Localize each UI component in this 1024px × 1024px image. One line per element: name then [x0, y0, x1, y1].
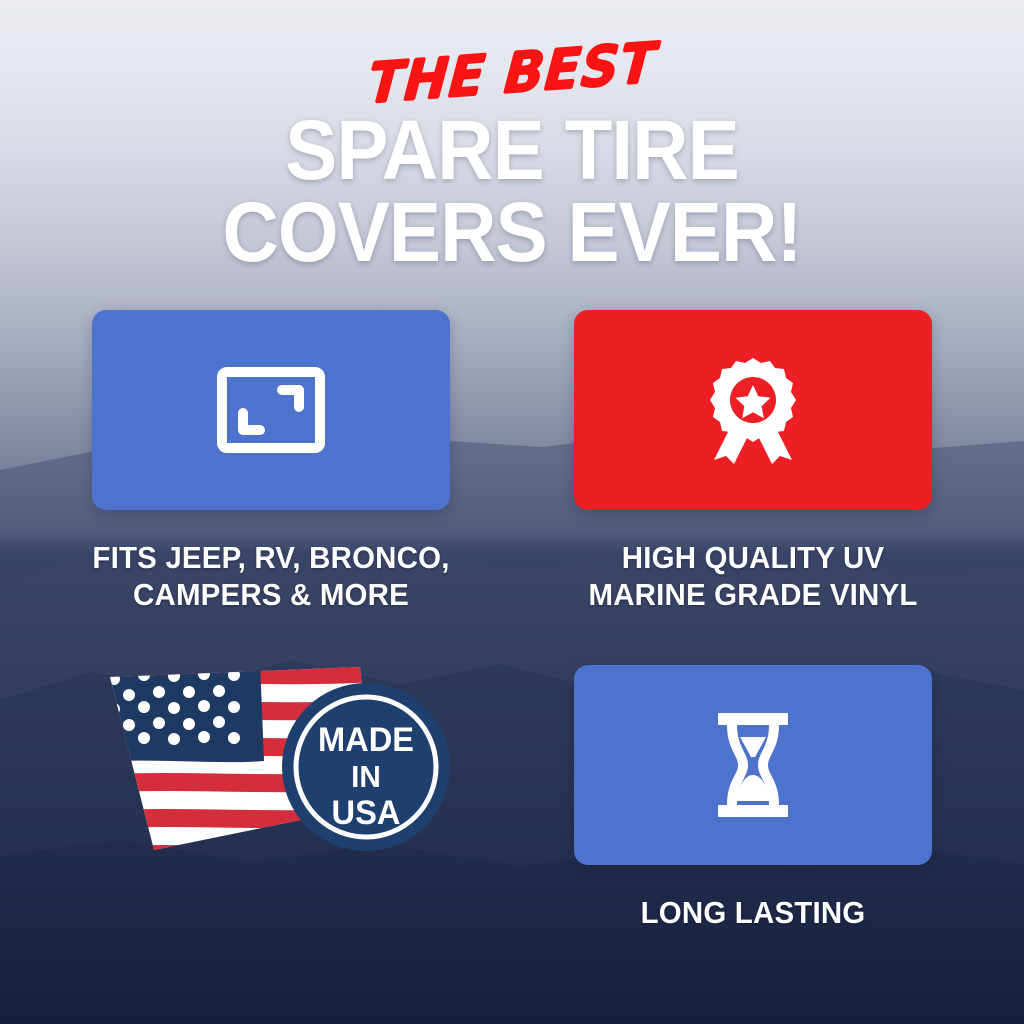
hourglass-icon: [716, 713, 790, 817]
caption-line-2: MARINE GRADE VINYL: [534, 577, 973, 614]
badge-line-usa: USA: [332, 794, 401, 832]
feature-card-long-lasting[interactable]: LONG LASTING: [522, 665, 984, 932]
feature-caption: HIGH QUALITY UV MARINE GRADE VINYL: [534, 540, 973, 613]
award-ribbon-icon: [701, 356, 805, 464]
made-in-usa-seal: MADE IN USA: [282, 683, 450, 851]
caption-line-2: CAMPERS & MORE: [52, 577, 491, 614]
feature-tile: [574, 665, 932, 865]
caption-line-1: LONG LASTING: [534, 895, 973, 932]
page-title-line-1: SPARE TIRE: [36, 108, 988, 192]
feature-caption: FITS JEEP, RV, BRONCO, CAMPERS & MORE: [52, 540, 491, 613]
caption-line-1: FITS JEEP, RV, BRONCO,: [52, 540, 491, 577]
caption-line-1: HIGH QUALITY UV: [534, 540, 973, 577]
hourglass-top-bar: [718, 713, 788, 725]
page-title-line-2: COVERS EVER!: [36, 190, 988, 274]
feature-tile: [574, 310, 932, 510]
made-in-usa-badge-group: MADE IN USA: [92, 665, 450, 865]
feature-card-high-quality-vinyl[interactable]: HIGH QUALITY UV MARINE GRADE VINYL: [522, 310, 984, 613]
feature-caption: LONG LASTING: [534, 895, 973, 932]
hourglass-bottom-bar: [718, 805, 788, 817]
feature-card-fits-vehicles[interactable]: FITS JEEP, RV, BRONCO, CAMPERS & MORE: [40, 310, 502, 613]
made-in-usa-flag-badge: MADE IN USA: [92, 665, 450, 880]
kicker-the-best: THE BEST: [0, 48, 1024, 100]
poster-canvas: THE BEST SPARE TIRE COVERS EVER! FITS JE…: [0, 0, 1024, 1024]
kicker-text: THE BEST: [366, 36, 659, 113]
badge-line-in: IN: [351, 759, 381, 794]
fit-frame-icon: [217, 367, 325, 453]
feature-tile: [92, 310, 450, 510]
badge-line-made: MADE: [318, 721, 414, 759]
feature-card-made-in-usa[interactable]: MADE IN USA: [40, 665, 502, 865]
